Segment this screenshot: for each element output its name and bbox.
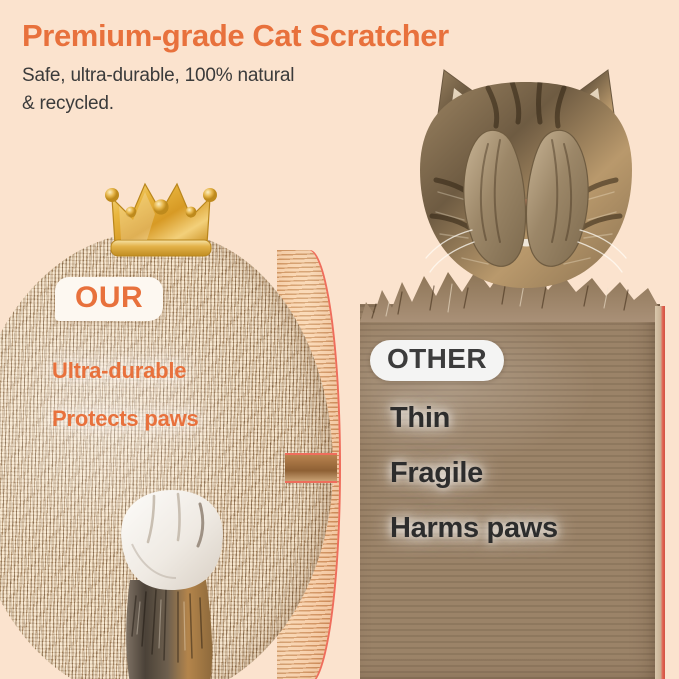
our-feature-list: Ultra-durable Protects paws [52,358,199,454]
other-feature-item: Harms paws [390,512,558,545]
our-feature-item: Ultra-durable [52,358,199,384]
facepalm-cat-image [392,52,660,314]
our-badge-label: OUR [75,283,143,313]
other-product-panel: OTHER Thin Fragile Harms paws [360,262,665,679]
crown-icon [95,162,227,262]
our-board-edge-notch [285,453,337,483]
other-feature-item: Fragile [390,457,558,490]
product-comparison-infographic: Premium-grade Cat Scratcher Safe, ultra-… [0,0,679,679]
our-badge: OUR [55,277,163,321]
other-feature-list: Thin Fragile Harms paws [390,402,558,567]
page-subtitle-line-1: Safe, ultra-durable, 100% natural [22,62,294,90]
page-subtitle: Safe, ultra-durable, 100% natural & recy… [22,62,294,117]
other-badge: OTHER [370,340,504,381]
other-board-red-edge [655,306,665,679]
our-feature-item: Protects paws [52,406,199,432]
cat-paw-icon [92,484,252,679]
other-feature-item: Thin [390,402,558,435]
page-subtitle-line-2: & recycled. [22,90,294,118]
other-badge-label: OTHER [387,344,487,375]
page-title: Premium-grade Cat Scratcher [22,18,449,54]
